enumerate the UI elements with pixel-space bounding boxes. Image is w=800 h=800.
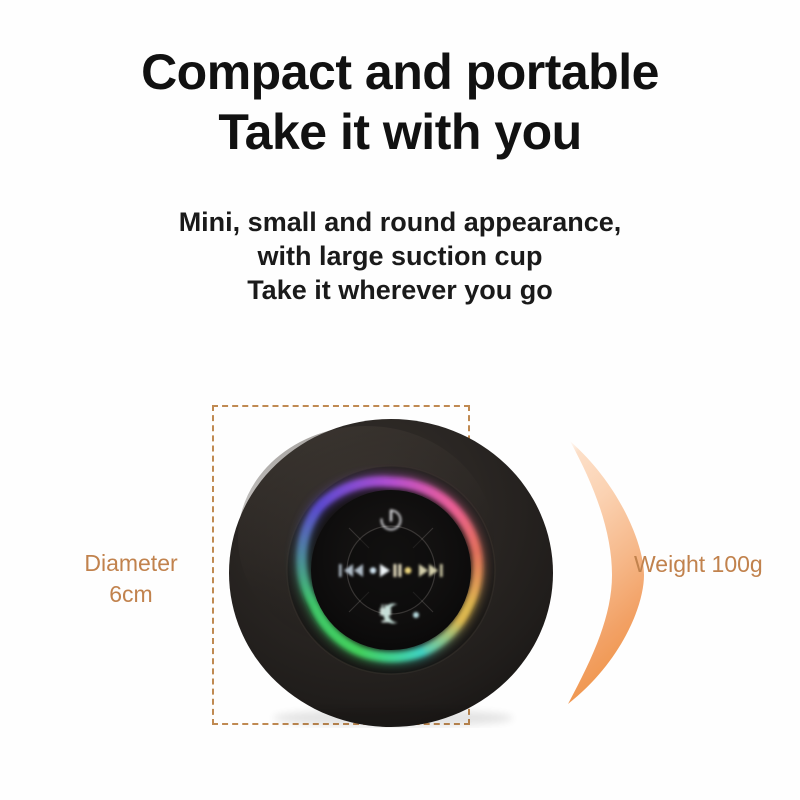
diameter-label: Diameter 6cm	[52, 548, 210, 610]
subtitle-line-3: Take it wherever you go	[0, 273, 800, 307]
diameter-value-text: 6cm	[52, 579, 210, 610]
diameter-label-text: Diameter	[52, 548, 210, 579]
play-pause-button[interactable]	[368, 550, 414, 584]
previous-track-button[interactable]	[332, 550, 370, 584]
power-button[interactable]	[372, 500, 410, 538]
headline-line-1: Compact and portable	[0, 44, 800, 100]
light-mode-button[interactable]	[370, 604, 416, 640]
subtitle-line-2: with large suction cup	[0, 239, 800, 273]
product-feature-image: Compact and portable Take it with you Mi…	[0, 0, 800, 800]
headline-line-2: Take it with you	[0, 104, 800, 160]
page-title: Compact and portable Take it with you	[0, 44, 800, 160]
subtitle-line-1: Mini, small and round appearance,	[0, 205, 800, 239]
page-subtitle: Mini, small and round appearance, with l…	[0, 205, 800, 307]
weight-label: Weight 100g	[634, 551, 763, 578]
next-track-button[interactable]	[412, 550, 450, 584]
